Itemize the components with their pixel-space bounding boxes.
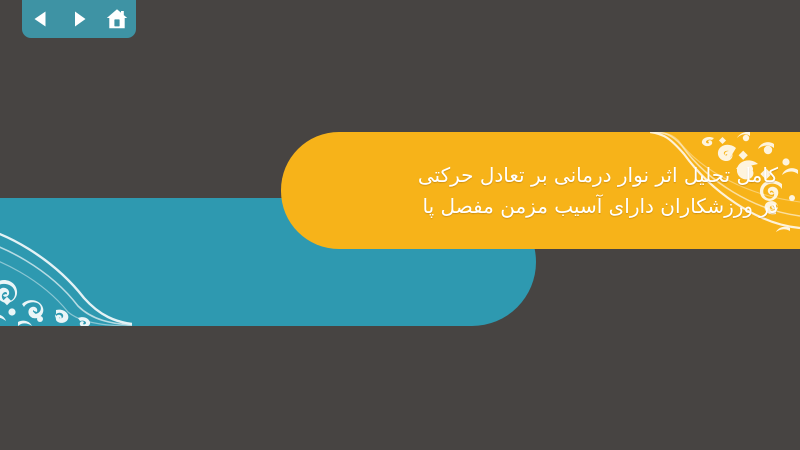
presentation-slide: کامل تحلیل اثر نوار درمانی بر تعادل حرکت…: [0, 0, 800, 450]
next-slide-button[interactable]: [65, 5, 93, 33]
slide-title: کامل تحلیل اثر نوار درمانی بر تعادل حرکت…: [316, 132, 778, 249]
previous-slide-button[interactable]: [27, 5, 55, 33]
home-button[interactable]: [103, 5, 131, 33]
triangle-left-icon: [31, 9, 51, 29]
slide-navigation-toolbar: [22, 0, 136, 38]
arabesque-ornament-icon: [0, 206, 132, 326]
slide-title-line-1: کامل تحلیل اثر نوار درمانی بر تعادل حرکت…: [418, 160, 778, 191]
home-icon: [105, 7, 129, 31]
triangle-right-icon: [69, 9, 89, 29]
slide-title-line-2: در ورزشکاران دارای آسیب مزمن مفصل پا: [423, 191, 778, 222]
orange-title-banner: کامل تحلیل اثر نوار درمانی بر تعادل حرکت…: [281, 132, 800, 249]
